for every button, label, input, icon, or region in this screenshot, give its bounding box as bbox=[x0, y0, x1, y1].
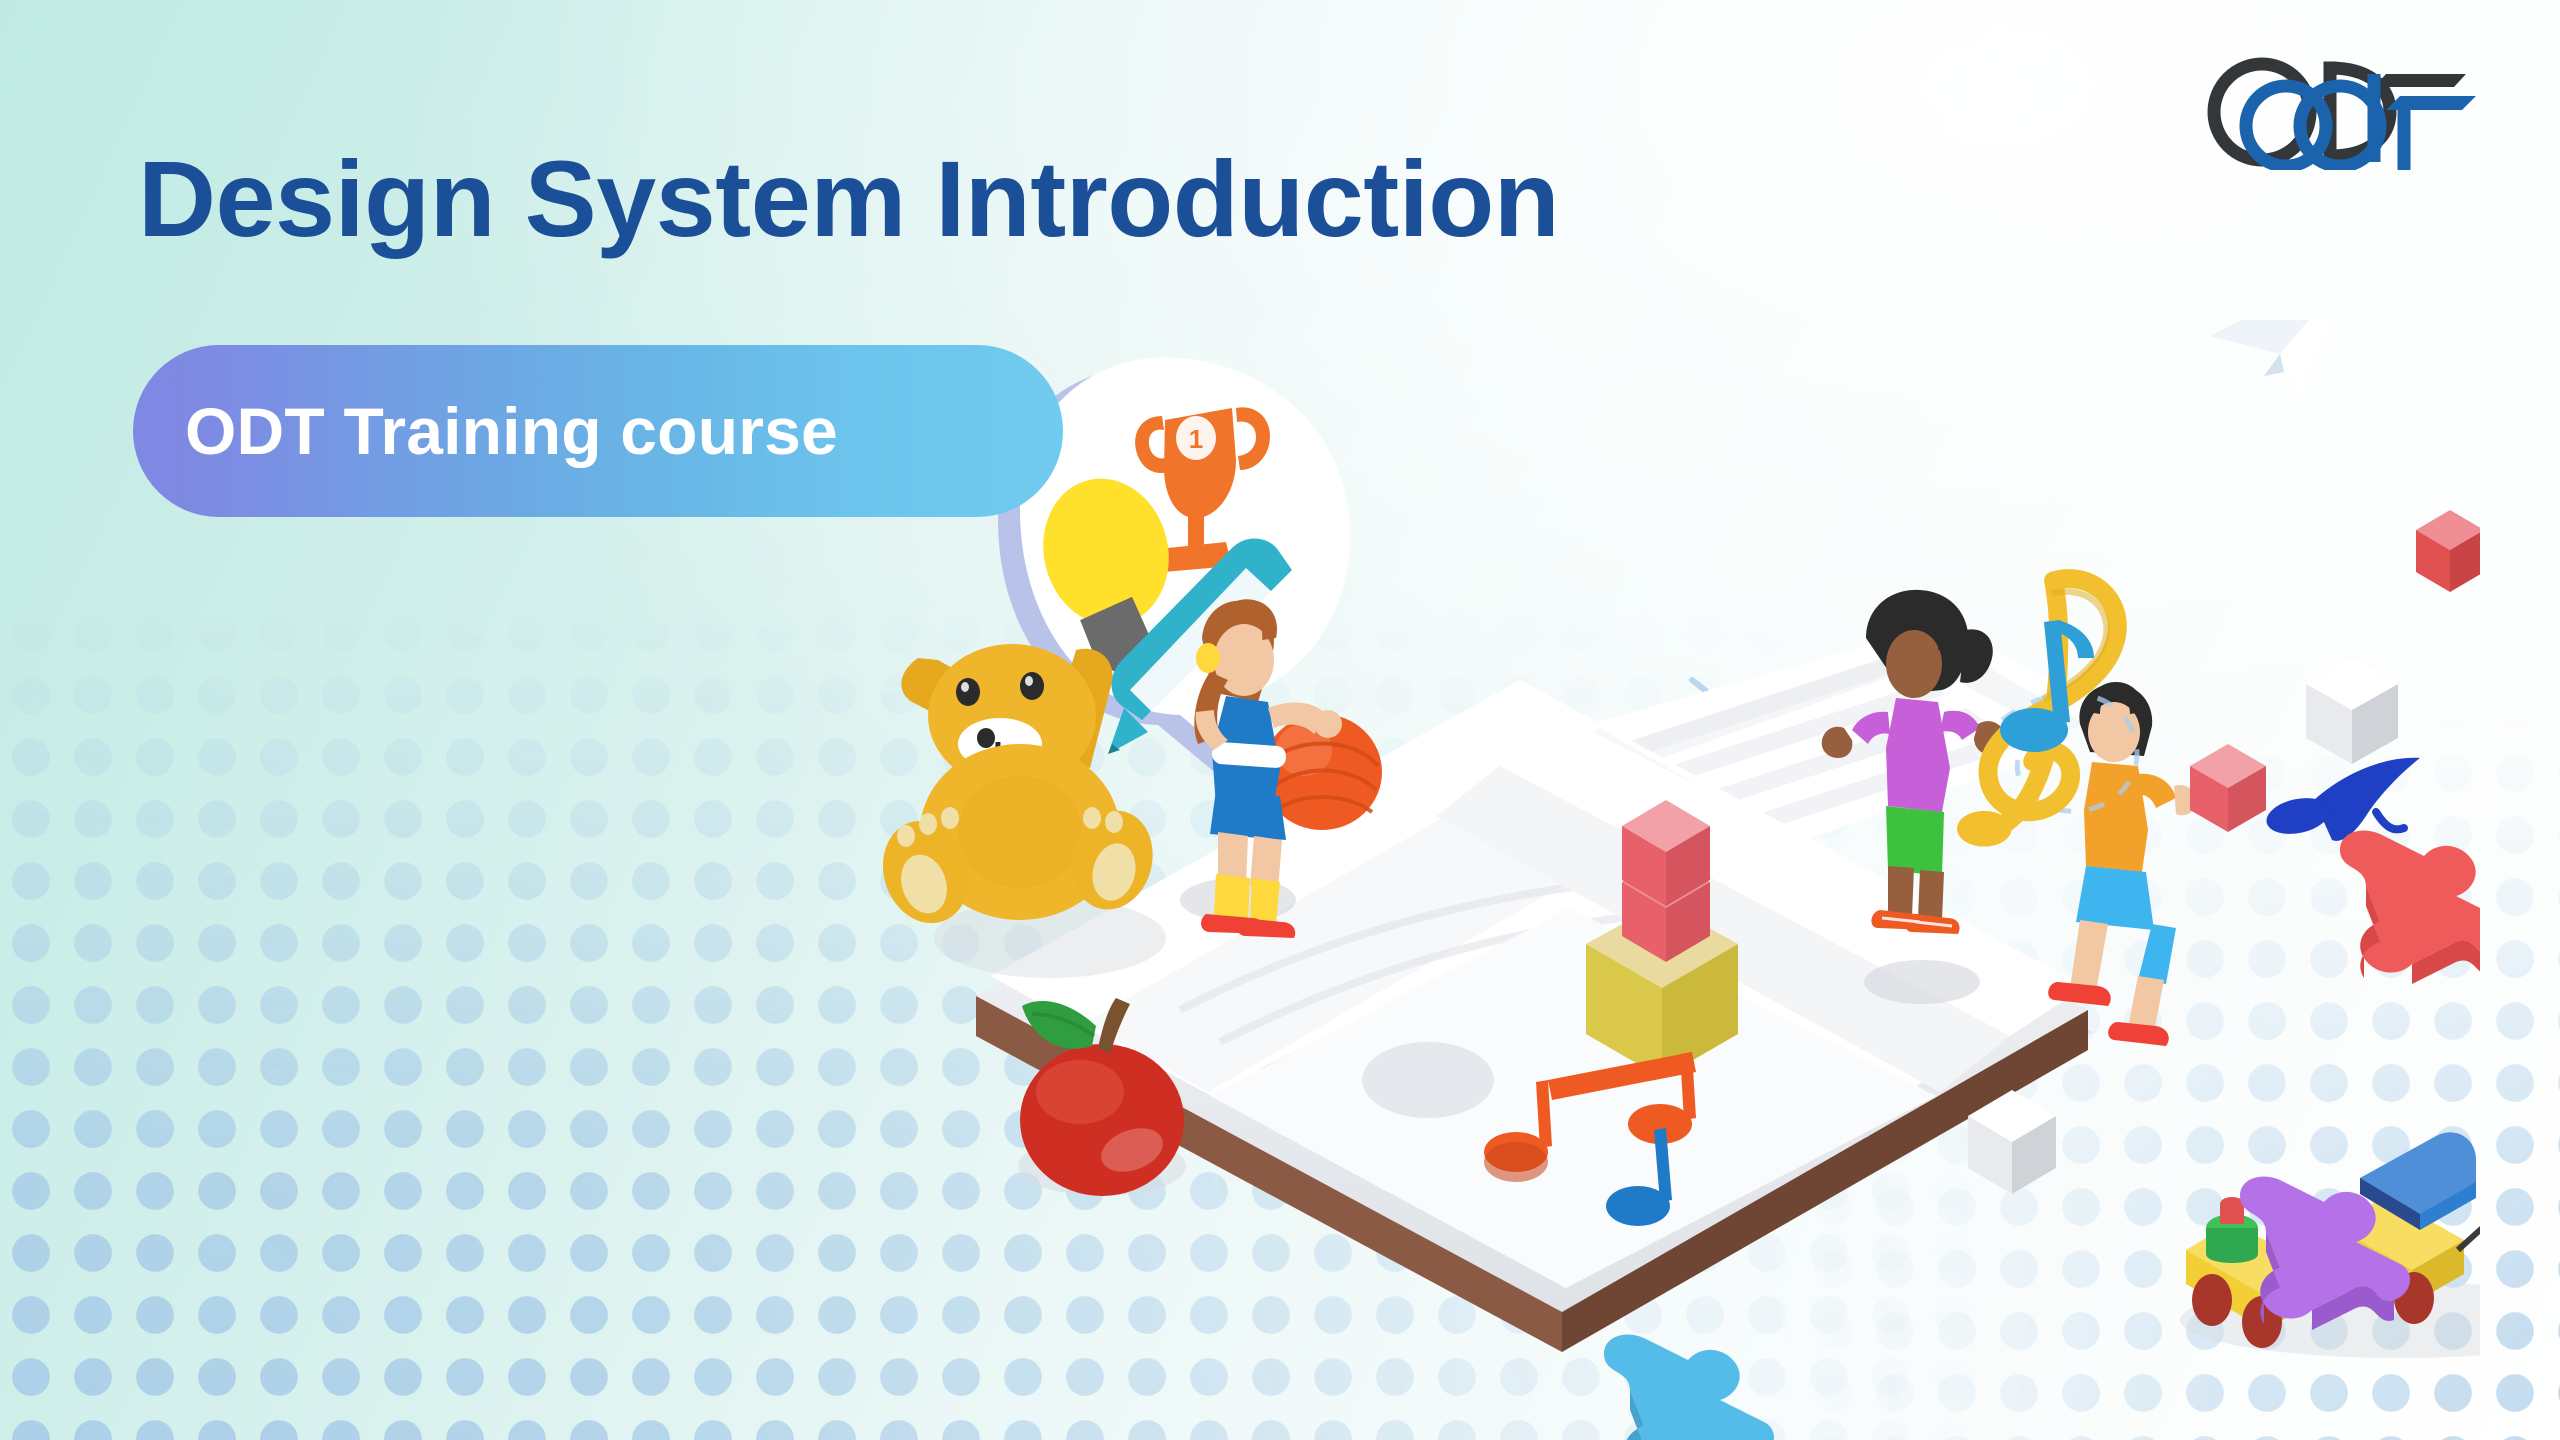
course-badge-label: ODT Training course bbox=[185, 393, 838, 469]
puzzle-piece-blue bbox=[1604, 1335, 1774, 1440]
cube-red-topright bbox=[2416, 510, 2480, 592]
odt-logo bbox=[2204, 52, 2476, 170]
svg-text:1: 1 bbox=[1189, 424, 1203, 454]
page-title: Design System Introduction bbox=[138, 145, 1559, 253]
character-boy-sitting bbox=[2048, 682, 2266, 1046]
paper-airplane-topright bbox=[2210, 320, 2360, 396]
illustration-open-book-scene: 1 bbox=[880, 320, 2480, 1440]
slide-canvas: 1 bbox=[0, 0, 2560, 1440]
puzzle-piece-red bbox=[2340, 831, 2480, 984]
eighth-note-navy bbox=[2263, 758, 2420, 841]
cube-white-right bbox=[2306, 658, 2398, 764]
course-badge: ODT Training course bbox=[133, 345, 1063, 517]
